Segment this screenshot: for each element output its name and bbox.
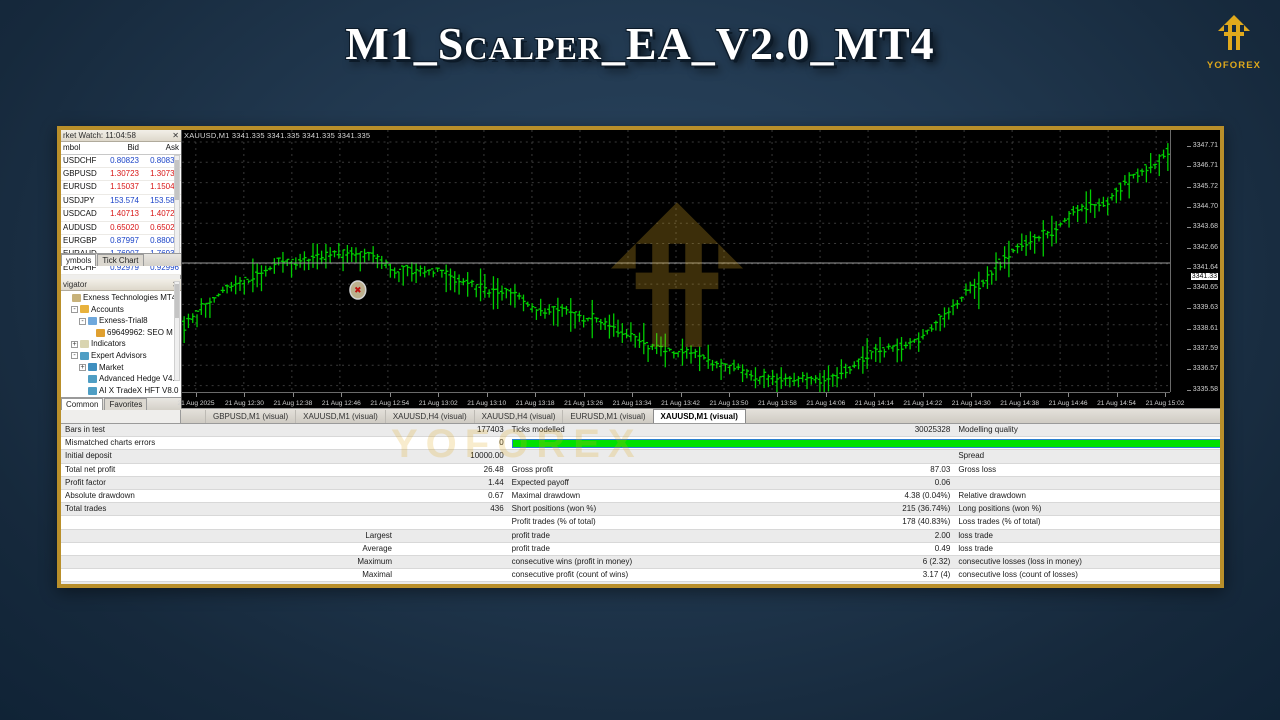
nav-tree-item[interactable]: Advanced Hedge V4.	[61, 373, 181, 385]
report-label-2: profit trade	[508, 542, 843, 555]
price-tick-label: 3340.65	[1193, 284, 1218, 291]
report-value-1: 26.48	[396, 463, 508, 476]
report-value-2: 3.17 (4)	[843, 569, 955, 582]
report-label-2: consecutive profit (count of wins)	[508, 569, 843, 582]
report-value-1: 0.67	[396, 490, 508, 503]
price-tick-label: 3343.68	[1193, 223, 1218, 230]
report-label-1: Initial deposit	[61, 450, 396, 463]
report-value-2: 178 (40.83%)	[843, 516, 955, 529]
time-tick-label: 21 Aug 12:38	[273, 400, 312, 407]
report-row: Total net profit26.48Gross profit87.03Gr…	[61, 463, 1220, 476]
time-tick	[487, 393, 488, 397]
report-label-1: Maximum	[61, 556, 396, 569]
time-tick-label: 21 Aug 13:42	[661, 400, 700, 407]
report-value-2: 6 (2.32)	[843, 556, 955, 569]
report-label-1: Absolute drawdown	[61, 490, 396, 503]
price-bars: ✖✖✖✖✖✖✖	[182, 130, 1170, 392]
ea-icon	[88, 387, 97, 395]
time-tick	[777, 393, 778, 397]
price-axis[interactable]: 3341.33 3347.713346.713345.723344.703343…	[1170, 130, 1220, 392]
cell-bid: 0.80823	[101, 154, 141, 167]
chart-panel[interactable]: ✖✖✖✖✖✖✖ XAUUSD,M1 3341.335 3341.335 3341…	[181, 130, 1220, 408]
report-label-2: consecutive wins	[508, 582, 843, 584]
nav-tree-item[interactable]: -Accounts	[61, 304, 181, 316]
report-row: Absolute drawdown0.67Maximal drawdown4.3…	[61, 490, 1220, 503]
table-row[interactable]: USDCAD1.407131.40724	[61, 208, 181, 221]
report-label-1: Maximal	[61, 569, 396, 582]
report-label-1: Total trades	[61, 503, 396, 516]
report-row: Bars in test177403Ticks modelled30025328…	[61, 424, 1220, 437]
report-value-1: 10000.00	[396, 450, 508, 463]
report-label-3: consecutive losses (loss in money)	[954, 556, 1220, 569]
time-tick-label: 21 Aug 13:10	[467, 400, 506, 407]
modelling-quality-bar	[508, 437, 1220, 450]
chart-tab[interactable]: GBPUSD,M1 (visual)	[205, 410, 295, 423]
report-value-1	[396, 556, 508, 569]
indicators-icon	[80, 340, 89, 348]
report-value-2: 87.03	[843, 463, 955, 476]
chart-ohlc-header: XAUUSD,M1 3341.335 3341.335 3341.335 334…	[184, 131, 370, 140]
time-tick	[1165, 393, 1166, 397]
time-tick	[293, 393, 294, 397]
cell-bid: 153.574	[101, 194, 141, 207]
report-label-3: consecutive loss (count of losses)	[954, 569, 1220, 582]
chart-tab[interactable]: XAUUSD,M1 (visual)	[295, 410, 385, 423]
column-header-ask[interactable]: Ask	[141, 142, 181, 154]
time-tick	[971, 393, 972, 397]
nav-tree-item[interactable]: -Expert Advisors	[61, 350, 181, 362]
report-table: Bars in test177403Ticks modelled30025328…	[61, 424, 1220, 584]
price-tick-label: 3337.59	[1193, 345, 1218, 352]
column-header-symbol[interactable]: mbol	[61, 142, 101, 154]
report-label-1	[61, 516, 396, 529]
nav-item-label: 69649962: SEO M	[107, 328, 173, 337]
report-row: Maximumconsecutive wins (profit in money…	[61, 556, 1220, 569]
cell-symbol: EURGBP	[61, 234, 101, 247]
time-tick-label: 21 Aug 13:18	[516, 400, 555, 407]
chart-tab[interactable]: XAUUSD,H4 (visual)	[385, 410, 474, 423]
nav-tree-item[interactable]: -Exness-Trial8	[61, 315, 181, 327]
price-tick-label: 3339.63	[1193, 304, 1218, 311]
report-row: Initial deposit10000.00SpreadCurrent (20…	[61, 450, 1220, 463]
tab-symbols[interactable]: ymbols	[61, 254, 96, 266]
time-tick-label: 21 Aug 15:02	[1146, 400, 1185, 407]
expander-toggle[interactable]: +	[71, 341, 78, 348]
time-tick-label: 21 Aug 12:54	[370, 400, 409, 407]
report-label-3: Modelling quality	[954, 424, 1220, 437]
close-icon[interactable]: ✕	[172, 130, 179, 142]
nav-tree-item[interactable]: 69649962: SEO M	[61, 327, 181, 339]
time-tick-label: 21 Aug 14:22	[903, 400, 942, 407]
report-value-1	[396, 582, 508, 584]
table-row[interactable]: USDJPY153.574153.581	[61, 194, 181, 207]
report-value-2	[843, 450, 955, 463]
report-label-1: Average	[61, 542, 396, 555]
navigator-panel: vigator ✕ Exness Technologies MT4-Accoun…	[61, 279, 181, 410]
time-tick	[1020, 393, 1021, 397]
yoforex-arrow-icon	[1211, 12, 1257, 58]
cell-symbol: USDCAD	[61, 208, 101, 221]
report-row: Profit factor1.44Expected payoff0.06	[61, 476, 1220, 489]
expander-toggle[interactable]: -	[71, 306, 78, 313]
report-label-1: Total net profit	[61, 463, 396, 476]
cell-symbol: AUDUSD	[61, 221, 101, 234]
report-label: Mismatched charts errors	[61, 437, 396, 450]
time-tick	[341, 393, 342, 397]
nav-tree-item[interactable]: Exness Technologies MT4	[61, 292, 181, 304]
time-tick-label: 21 Aug 12:46	[322, 400, 361, 407]
time-tick	[826, 393, 827, 397]
tab-tick-chart[interactable]: Tick Chart	[97, 254, 143, 266]
report-value-1	[396, 569, 508, 582]
report-label-3	[954, 476, 1220, 489]
server-icon	[88, 317, 97, 325]
tab-favorites[interactable]: Favorites	[104, 398, 147, 410]
time-tick-label: 21 Aug 14:54	[1097, 400, 1136, 407]
price-tick-label: 3341.64	[1193, 264, 1218, 271]
report-label-3: loss trade	[954, 542, 1220, 555]
report-value-1	[396, 529, 508, 542]
nav-item-label: Market	[99, 363, 123, 372]
report-row: Mismatched charts errors0	[61, 437, 1220, 450]
nav-item-label: Exness Technologies MT4	[83, 293, 176, 302]
report-label-3: Gross loss	[954, 463, 1220, 476]
market-watch-tabs: ymbols Tick Chart	[61, 253, 181, 266]
report-label-2: Gross profit	[508, 463, 843, 476]
report-label-2: consecutive wins (profit in money)	[508, 556, 843, 569]
report-label-3: Loss trades (% of total)	[954, 516, 1220, 529]
chart-tab-bar: GBPUSD,M1 (visual)XAUUSD,M1 (visual)XAUU…	[181, 408, 1220, 423]
market-icon	[88, 363, 97, 371]
chart-tab-active[interactable]: XAUUSD,M1 (visual)	[653, 409, 746, 423]
price-tick-label: 3338.61	[1193, 325, 1218, 332]
report-value-2: 2.00	[843, 529, 955, 542]
column-header-bid[interactable]: Bid	[101, 142, 141, 154]
report-row: Maximalconsecutive profit (count of wins…	[61, 569, 1220, 582]
time-tick	[632, 393, 633, 397]
report-label-2: profit trade	[508, 529, 843, 542]
report-label-1: Bars in test	[61, 424, 396, 437]
market-watch-title: rket Watch: 11:04:58	[63, 131, 136, 140]
metatrader-window: rket Watch: 11:04:58 ✕ mbol Bid Ask USDC…	[57, 126, 1224, 588]
report-value-1: 177403	[396, 424, 508, 437]
price-tick-label: 3346.71	[1193, 162, 1218, 169]
time-tick-label: 21 Aug 14:14	[855, 400, 894, 407]
page-title: M1_Scalper_EA_V2.0_MT4	[0, 17, 1280, 70]
report-label-3: Long positions (won %)	[954, 503, 1220, 516]
nav-item-label: Accounts	[91, 305, 124, 314]
time-tick	[874, 393, 875, 397]
time-tick-label: 21 Aug 2025	[177, 400, 214, 407]
time-tick	[681, 393, 682, 397]
expander-toggle[interactable]: +	[79, 364, 86, 371]
report-row: Profit trades (% of total)178 (40.83%)Lo…	[61, 516, 1220, 529]
report-value-2: 4.38 (0.04%)	[843, 490, 955, 503]
chart-tab[interactable]: EURUSD,M1 (visual)	[562, 410, 652, 423]
navigator-tabs: Common Favorites	[61, 397, 181, 410]
price-tick-label: 3335.58	[1193, 386, 1218, 393]
report-label-3: consecutive losses	[954, 582, 1220, 584]
time-tick-label: 21 Aug 14:06	[806, 400, 845, 407]
table-row[interactable]: AUDUSD0.650200.65026	[61, 221, 181, 234]
navigator-scrollbar[interactable]	[174, 281, 180, 381]
market-watch-panel: rket Watch: 11:04:58 ✕ mbol Bid Ask USDC…	[61, 130, 181, 266]
report-label-3: Relative drawdown	[954, 490, 1220, 503]
nav-item-label: AI X TradeX HFT V8.0	[99, 386, 178, 395]
experts-icon	[80, 352, 89, 360]
report-value-2: 2	[843, 582, 955, 584]
price-tick-label: 3344.70	[1193, 203, 1218, 210]
time-tick	[1068, 393, 1069, 397]
cell-bid: 1.30723	[101, 167, 141, 180]
tab-common[interactable]: Common	[61, 398, 103, 410]
left-dock: rket Watch: 11:04:58 ✕ mbol Bid Ask USDC…	[61, 130, 181, 424]
nav-tree-item[interactable]: +Indicators	[61, 338, 181, 350]
nav-tree-item[interactable]: AI X TradeX HFT V8.0	[61, 385, 181, 397]
report-row: Averageprofit trade0.49loss trade-0.23	[61, 542, 1220, 555]
price-tick-label: 3336.57	[1193, 365, 1218, 372]
report-label-3: Spread	[954, 450, 1220, 463]
table-row[interactable]: USDCHF0.808230.80832	[61, 154, 181, 167]
report-label-2: Maximal drawdown	[508, 490, 843, 503]
time-tick-label: 21 Aug 13:26	[564, 400, 603, 407]
report-label-3: loss trade	[954, 529, 1220, 542]
expander-toggle[interactable]: -	[79, 318, 86, 325]
time-tick-label: 21 Aug 14:46	[1049, 400, 1088, 407]
cell-symbol: USDCHF	[61, 154, 101, 167]
time-tick	[244, 393, 245, 397]
report-value-2: 0.49	[843, 542, 955, 555]
svg-text:✖: ✖	[354, 285, 361, 295]
nav-item-label: Exness-Trial8	[99, 316, 148, 325]
price-tick-label: 3342.66	[1193, 244, 1218, 251]
price-tick-label: 3345.72	[1193, 183, 1218, 190]
trade-marker[interactable]: ✖	[350, 281, 366, 299]
strategy-tester-report[interactable]: YOFOREX Bars in test177403Ticks modelled…	[61, 423, 1220, 584]
time-tick-label: 21 Aug 14:38	[1000, 400, 1039, 407]
expander-toggle[interactable]: -	[71, 352, 78, 359]
time-tick	[535, 393, 536, 397]
cell-bid: 1.40713	[101, 208, 141, 221]
app-icon	[72, 294, 81, 302]
report-value-1: 1.44	[396, 476, 508, 489]
table-row[interactable]: GBPUSD1.307231.30730	[61, 167, 181, 180]
report-row: Largestprofit trade2.00loss trade-0.75	[61, 529, 1220, 542]
report-row: Averageconsecutive wins2consecutive loss…	[61, 582, 1220, 584]
user-icon	[96, 329, 105, 337]
cell-symbol: USDJPY	[61, 194, 101, 207]
time-tick	[923, 393, 924, 397]
time-tick-label: 21 Aug 13:34	[613, 400, 652, 407]
brand-logo: YOFOREX	[1198, 12, 1270, 71]
nav-item-label: Expert Advisors	[91, 351, 147, 360]
time-tick	[438, 393, 439, 397]
cell-symbol: GBPUSD	[61, 167, 101, 180]
report-value-2: 215 (36.74%)	[843, 503, 955, 516]
table-header-row: mbol Bid Ask	[61, 142, 181, 154]
report-value-1: 436	[396, 503, 508, 516]
report-value: 0	[396, 437, 508, 450]
cell-bid: 0.87997	[101, 234, 141, 247]
report-label-2: Short positions (won %)	[508, 503, 843, 516]
time-tick-label: 21 Aug 13:02	[419, 400, 458, 407]
report-label-2: Profit trades (% of total)	[508, 516, 843, 529]
cell-symbol: EURUSD	[61, 181, 101, 194]
report-label-2	[508, 450, 843, 463]
time-tick-label: 21 Aug 13:50	[710, 400, 749, 407]
chart-canvas[interactable]: ✖✖✖✖✖✖✖ XAUUSD,M1 3341.335 3341.335 3341…	[182, 130, 1170, 392]
report-value-1	[396, 516, 508, 529]
time-tick	[1117, 393, 1118, 397]
price-tick-label: 3347.71	[1193, 142, 1218, 149]
table-row[interactable]: EURUSD1.150371.15043	[61, 181, 181, 194]
time-tick	[584, 393, 585, 397]
cell-bid: 0.65020	[101, 221, 141, 234]
report-value-2: 0.06	[843, 476, 955, 489]
report-row: Total trades436Short positions (won %)21…	[61, 503, 1220, 516]
nav-item-label: Advanced Hedge V4.	[99, 374, 175, 383]
time-axis[interactable]: 21 Aug 202521 Aug 12:3021 Aug 12:3821 Au…	[182, 392, 1170, 408]
nav-tree-item[interactable]: +Market	[61, 362, 181, 374]
time-tick	[390, 393, 391, 397]
report-value-1	[396, 542, 508, 555]
ea-icon	[88, 375, 97, 383]
chart-tab[interactable]: XAUUSD,H4 (visual)	[474, 410, 563, 423]
current-price-label: 3341.33	[1190, 272, 1219, 281]
time-tick	[729, 393, 730, 397]
time-tick-label: 21 Aug 14:30	[952, 400, 991, 407]
table-row[interactable]: EURGBP0.879970.88007	[61, 234, 181, 247]
report-label-2: Expected payoff	[508, 476, 843, 489]
time-tick-label: 21 Aug 13:58	[758, 400, 797, 407]
nav-item-label: Indicators	[91, 339, 126, 348]
report-value-2: 30025328	[843, 424, 955, 437]
navigator-tree: Exness Technologies MT4-Accounts-Exness-…	[61, 291, 181, 397]
accounts-icon	[80, 305, 89, 313]
navigator-title: vigator	[63, 280, 87, 289]
cell-bid: 1.15037	[101, 181, 141, 194]
time-tick-label: 21 Aug 12:30	[225, 400, 264, 407]
report-label-1: Profit factor	[61, 476, 396, 489]
brand-wordmark: YOFOREX	[1198, 60, 1270, 71]
market-watch-caption: rket Watch: 11:04:58 ✕	[61, 130, 181, 142]
report-label-1: Largest	[61, 529, 396, 542]
time-tick	[196, 393, 197, 397]
navigator-caption: vigator ✕	[61, 279, 181, 291]
report-label-2: Ticks modelled	[508, 424, 843, 437]
market-watch-scrollbar[interactable]	[174, 155, 180, 260]
report-label-1: Average	[61, 582, 396, 584]
